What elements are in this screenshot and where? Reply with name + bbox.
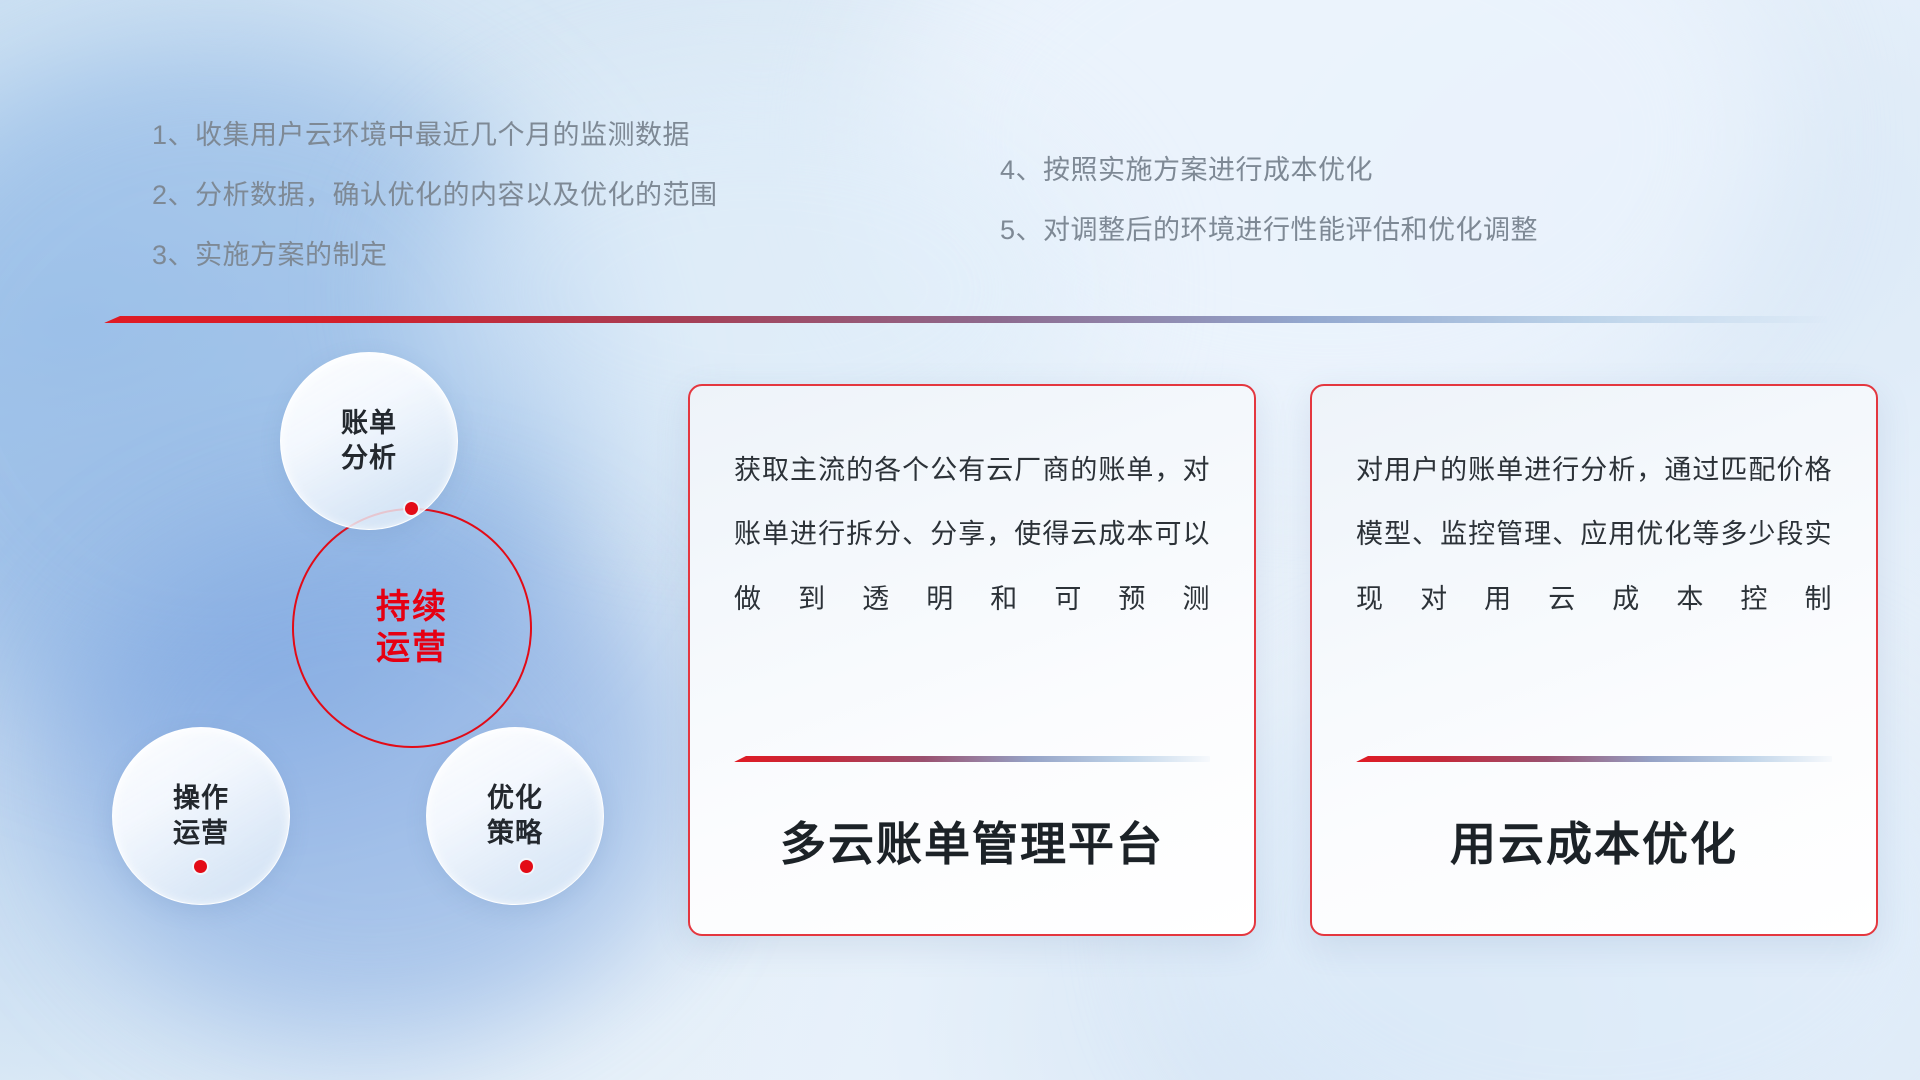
- step-item-4: 4、按照实施方案进行成本优化: [1000, 157, 1538, 184]
- bubble-optimization-strategy-line1: 优化: [487, 781, 543, 816]
- card-accent-rule: [734, 756, 1210, 762]
- step-item-3: 3、实施方案的制定: [152, 242, 718, 269]
- card-multi-cloud-billing[interactable]: 获取主流的各个公有云厂商的账单，对账单进行拆分、分享，使得云成本可以做到透明和可…: [688, 384, 1256, 936]
- steps-right-column: 4、按照实施方案进行成本优化 5、对调整后的环境进行性能评估和优化调整: [1000, 157, 1538, 277]
- step-item-1: 1、收集用户云环境中最近几个月的监测数据: [152, 122, 718, 149]
- step-item-5: 5、对调整后的环境进行性能评估和优化调整: [1000, 217, 1538, 244]
- bubble-operation[interactable]: 操作 运营: [112, 727, 290, 905]
- step-item-2: 2、分析数据，确认优化的内容以及优化的范围: [152, 182, 718, 209]
- cycle-center-label-line2: 运营: [376, 628, 448, 669]
- bubble-operation-line2: 运营: [173, 816, 229, 851]
- steps-left-column: 1、收集用户云环境中最近几个月的监测数据 2、分析数据，确认优化的内容以及优化的…: [152, 122, 718, 302]
- card-cloud-cost-optimization-body: 对用户的账单进行分析，通过匹配价格模型、监控管理、应用优化等多少段实现对用云成本…: [1356, 438, 1832, 631]
- bubble-bill-analysis-line2: 分析: [341, 441, 397, 476]
- continuous-operation-diagram: 持续 运营 账单 分析 操作 运营 优化 策略: [96, 352, 656, 952]
- cycle-node-dot-right-icon: [520, 860, 533, 873]
- section-divider-rule: [104, 316, 1827, 323]
- card-accent-rule: [1356, 756, 1832, 762]
- cycle-node-dot-left-icon: [194, 860, 207, 873]
- slide-root: 1、收集用户云环境中最近几个月的监测数据 2、分析数据，确认优化的内容以及优化的…: [0, 0, 1920, 1080]
- cycle-center-label: 持续 运营: [292, 508, 532, 748]
- bubble-bill-analysis-line1: 账单: [341, 406, 397, 441]
- card-multi-cloud-billing-body: 获取主流的各个公有云厂商的账单，对账单进行拆分、分享，使得云成本可以做到透明和可…: [734, 438, 1210, 631]
- bubble-optimization-strategy[interactable]: 优化 策略: [426, 727, 604, 905]
- cycle-center-label-line1: 持续: [376, 587, 448, 628]
- bubble-optimization-strategy-line2: 策略: [487, 816, 543, 851]
- card-multi-cloud-billing-title: 多云账单管理平台: [734, 762, 1210, 934]
- bubble-operation-line1: 操作: [173, 781, 229, 816]
- card-cloud-cost-optimization-title: 用云成本优化: [1356, 762, 1832, 934]
- card-cloud-cost-optimization[interactable]: 对用户的账单进行分析，通过匹配价格模型、监控管理、应用优化等多少段实现对用云成本…: [1310, 384, 1878, 936]
- cycle-node-dot-top-icon: [405, 502, 418, 515]
- bubble-bill-analysis[interactable]: 账单 分析: [280, 352, 458, 530]
